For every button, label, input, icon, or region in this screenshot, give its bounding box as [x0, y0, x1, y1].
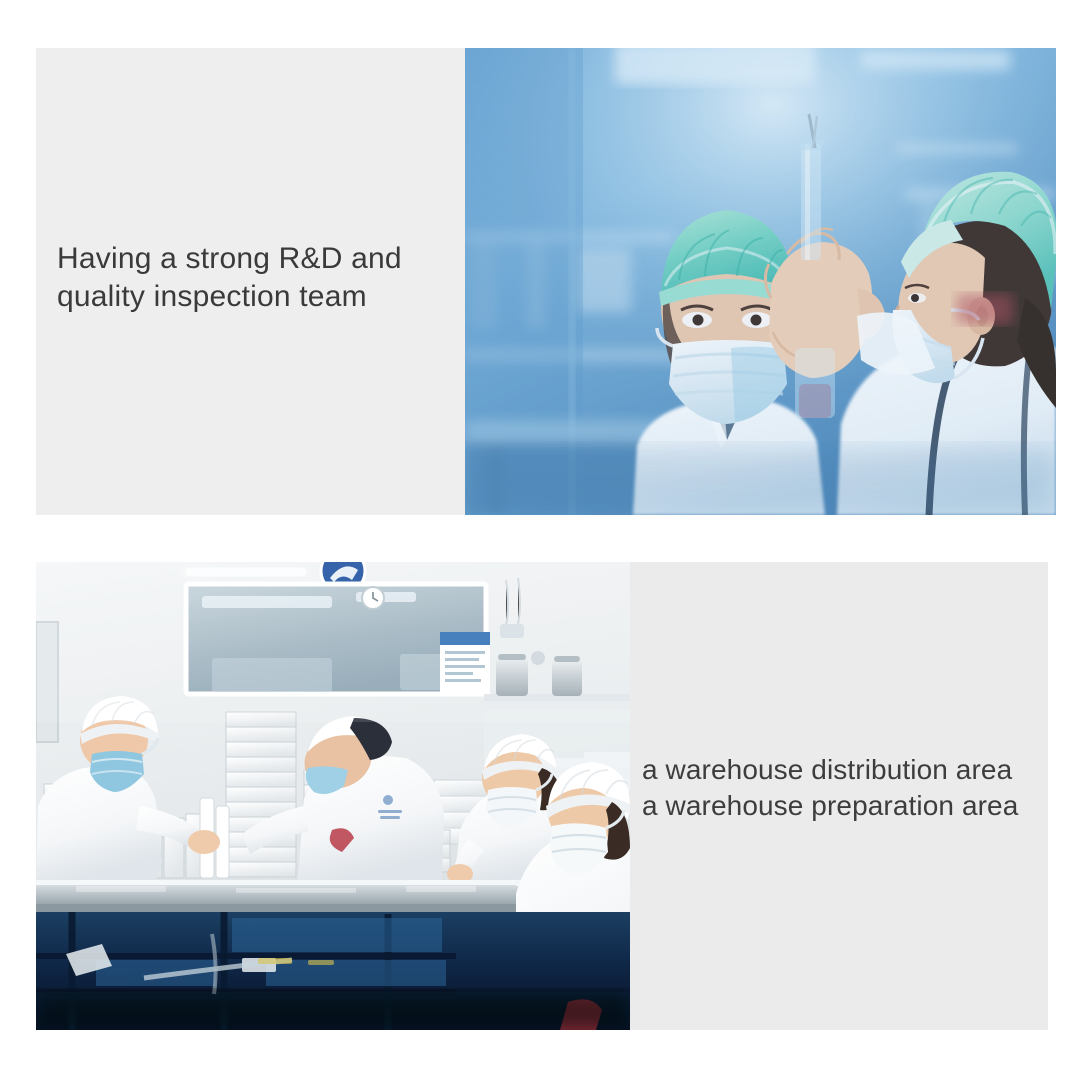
section-warehouse-areas: a warehouse distribution area a warehous…	[36, 562, 1048, 1030]
warehouse-caption-line2: a warehouse preparation area	[642, 788, 1052, 824]
rnd-caption-line2: quality inspection team	[57, 278, 457, 316]
warehouse-caption-line1: a warehouse distribution area	[642, 754, 1012, 785]
banner-page: Having a strong R&D and quality inspecti…	[0, 0, 1080, 1080]
warehouse-caption-panel: a warehouse distribution area a warehous…	[630, 562, 1048, 1030]
rnd-caption: Having a strong R&D and quality inspecti…	[57, 240, 457, 316]
table-top-front	[36, 880, 516, 912]
section-rnd-quality: Having a strong R&D and quality inspecti…	[36, 48, 1056, 515]
rnd-caption-panel: Having a strong R&D and quality inspecti…	[36, 48, 465, 515]
warehouse-packing-illustration	[36, 562, 630, 1030]
rnd-caption-line1: Having a strong R&D and	[57, 242, 402, 275]
floor-area	[36, 912, 630, 1030]
warehouse-caption: a warehouse distribution area a warehous…	[642, 752, 1052, 824]
lab-technicians-illustration	[465, 48, 1056, 515]
warehouse-packing-photo	[36, 562, 630, 1030]
lab-technicians-photo	[465, 48, 1056, 515]
